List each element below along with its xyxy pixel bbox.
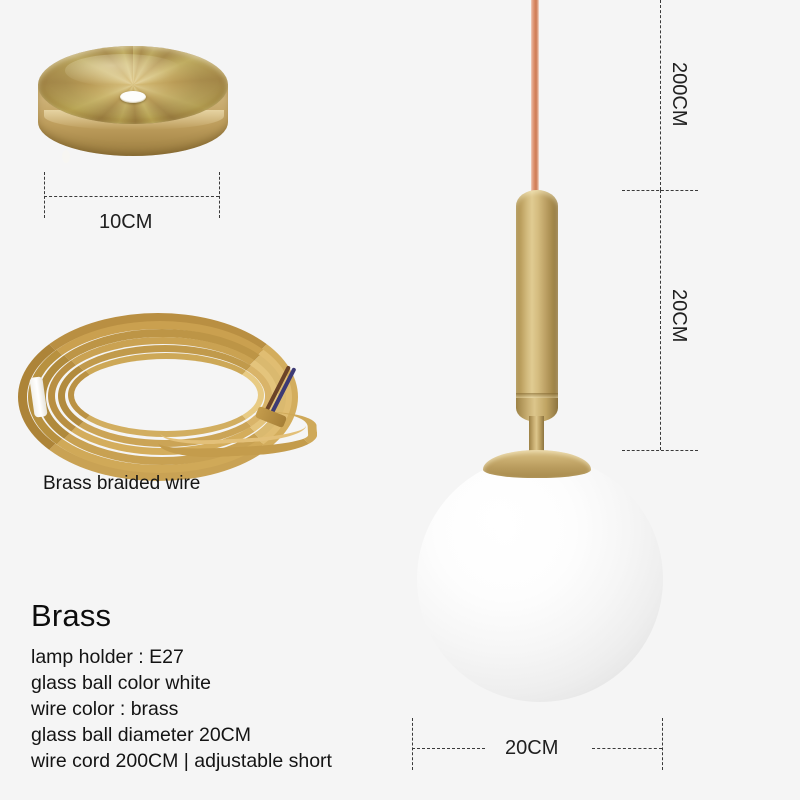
vertical-dim-line-20cm [660,190,661,450]
vertical-dim-line-200cm [660,0,661,190]
fixture-height-label: 20CM [669,289,689,342]
spec-line-glass-color: glass ball color white [31,674,211,694]
cord-length-label: 200CM [669,62,689,126]
canopy-dim-line [44,196,219,197]
braided-wire-coil-illustration [10,305,350,470]
spec-line-ball-diameter: glass ball diameter 20CM [31,726,251,746]
spec-line-cord-length: wire cord 200CM | adjustable short [31,752,332,772]
spec-line-holder: lamp holder : E27 [31,648,184,668]
glass-globe [417,456,663,702]
ceiling-canopy-illustration [38,46,228,178]
product-spec-image: 10CM Brass braided wire Brass lamp holde… [0,0,800,800]
wire-caption: Brass braided wire [43,474,200,493]
canopy-top-surface [38,46,228,124]
canopy-center-hole [120,91,146,103]
globe-dim-tick-left [412,718,413,770]
spec-line-wire-color: wire color : brass [31,700,178,720]
power-cord [531,0,539,198]
canopy-dimension-label: 10CM [99,212,152,232]
globe-brass-collar [483,450,591,478]
globe-diameter-label: 20CM [505,738,558,758]
globe-dim-line-right [592,748,662,749]
globe-dim-line-left [412,748,485,749]
canopy-side-hole [62,150,70,163]
globe-dim-tick-right [662,718,663,770]
canopy-dim-tick-left [44,172,45,218]
vertical-dim-tick-bottom [622,450,698,451]
canopy-dim-tick-right [219,172,220,218]
spec-title: Brass [31,600,111,631]
brass-rod-body [516,190,558,420]
